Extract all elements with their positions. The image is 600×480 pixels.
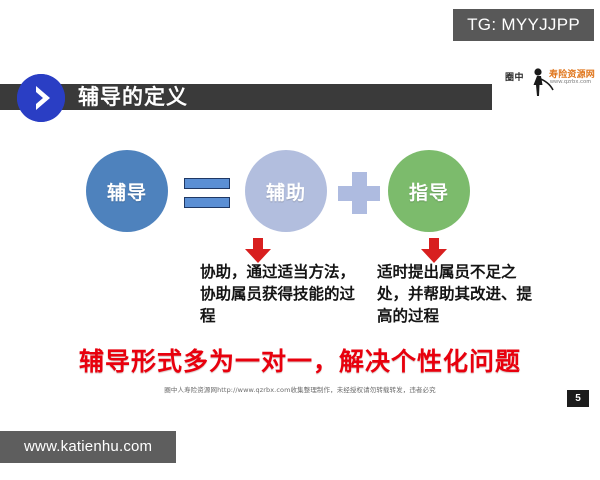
concept-circle-fudao: 辅导 (86, 150, 168, 232)
equals-bar-bottom (184, 197, 230, 208)
watermark-bar: www.katienhu.com (0, 431, 176, 463)
title-bar (0, 84, 492, 110)
logo-url: www.qzrbx.com (550, 79, 591, 85)
plus-arm-vertical (352, 172, 367, 214)
page-number-badge: 5 (567, 390, 589, 407)
site-logo: 圈中 寿险资源网 www.qzrbx.com (505, 64, 595, 100)
headline-text: 辅导形式多为一对一，解决个性化问题 (0, 342, 600, 378)
equals-sign (184, 178, 230, 208)
equals-bar-top (184, 178, 230, 189)
slide-canvas: TG: MYYJJPP 辅导的定义 圈中 寿险资源网 www.qzrbx.com… (0, 0, 600, 480)
concept-circle-zhidao: 指导 (388, 150, 470, 232)
plus-sign (338, 172, 380, 214)
concept-circle-fuzhu: 辅助 (245, 150, 327, 232)
page-title: 辅导的定义 (78, 82, 188, 112)
copyright-note: 圈中人寿险资源网http://www.qzrbx.com收集整理制作，未经授权请… (0, 384, 600, 394)
definition-text-left: 协助，通过适当方法，协助属员获得技能的过程 (200, 261, 368, 327)
chevron-right-icon (17, 74, 65, 122)
logo-brand-cn: 圈中 (505, 70, 524, 83)
tg-badge: TG: MYYJJPP (453, 9, 594, 41)
definition-text-right: 适时提出属员不足之处，并帮助其改进、提高的过程 (377, 261, 545, 327)
